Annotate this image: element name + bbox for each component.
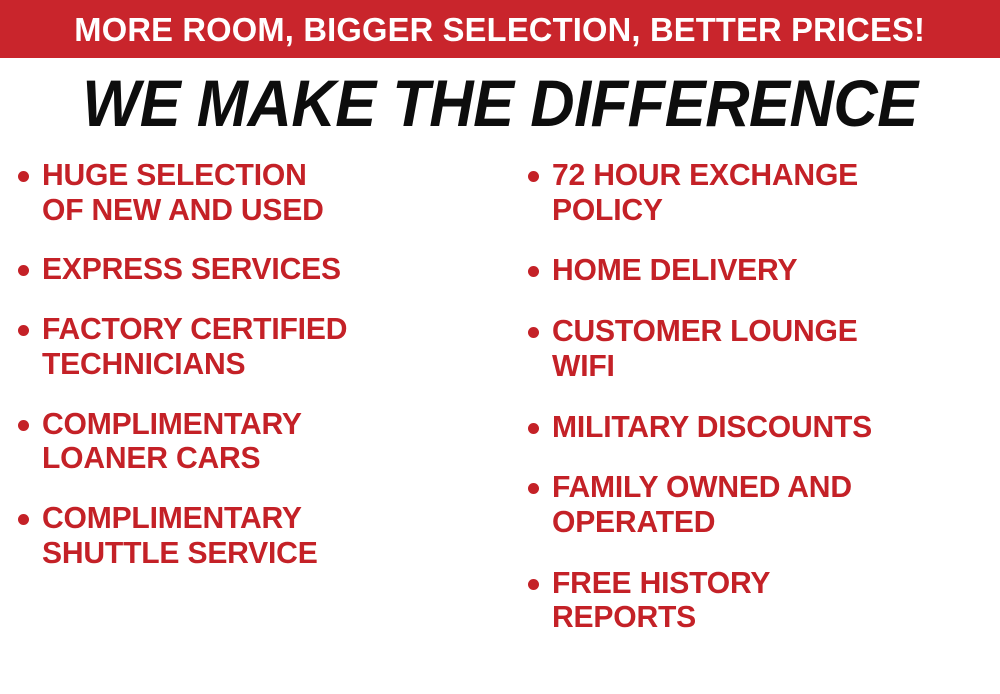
feature-label: 72 HOUR EXCHANGE POLICY <box>552 158 987 227</box>
feature-label: EXPRESS SERVICES <box>42 252 494 287</box>
bullet-dot-icon <box>528 483 539 494</box>
features-column-left: HUGE SELECTION OF NEW AND USED EXPRESS S… <box>0 158 508 694</box>
feature-item: COMPLIMENTARY SHUTTLE SERVICE <box>18 501 508 570</box>
bullet-dot-icon <box>528 171 539 182</box>
features-section: HUGE SELECTION OF NEW AND USED EXPRESS S… <box>0 158 1000 694</box>
feature-item: FAMILY OWNED AND OPERATED <box>528 470 1000 539</box>
bullet-dot-icon <box>18 171 29 182</box>
bullet-dot-icon <box>528 266 539 277</box>
feature-item: HOME DELIVERY <box>528 253 1000 288</box>
feature-item: MILITARY DISCOUNTS <box>528 410 1000 445</box>
feature-label: FAMILY OWNED AND OPERATED <box>552 470 987 539</box>
bullet-dot-icon <box>528 327 539 338</box>
feature-label: HOME DELIVERY <box>552 253 987 288</box>
feature-item: FACTORY CERTIFIED TECHNICIANS <box>18 312 508 381</box>
feature-item: EXPRESS SERVICES <box>18 252 508 287</box>
page-title: WE MAKE THE DIFFERENCE <box>35 70 965 136</box>
feature-item: 72 HOUR EXCHANGE POLICY <box>528 158 1000 227</box>
feature-item: COMPLIMENTARY LOANER CARS <box>18 407 508 476</box>
bullet-dot-icon <box>18 514 29 525</box>
bullet-dot-icon <box>18 420 29 431</box>
promo-banner-text: MORE ROOM, BIGGER SELECTION, BETTER PRIC… <box>75 13 926 46</box>
bullet-dot-icon <box>528 423 539 434</box>
bullet-dot-icon <box>528 579 539 590</box>
feature-label: COMPLIMENTARY SHUTTLE SERVICE <box>42 501 494 570</box>
feature-item: CUSTOMER LOUNGE WIFI <box>528 314 1000 383</box>
feature-label: COMPLIMENTARY LOANER CARS <box>42 407 494 476</box>
bullet-dot-icon <box>18 325 29 336</box>
feature-label: FACTORY CERTIFIED TECHNICIANS <box>42 312 494 381</box>
promo-banner: MORE ROOM, BIGGER SELECTION, BETTER PRIC… <box>0 0 1000 58</box>
feature-item: FREE HISTORY REPORTS <box>528 566 1000 635</box>
features-column-right: 72 HOUR EXCHANGE POLICY HOME DELIVERY CU… <box>508 158 1000 694</box>
feature-label: FREE HISTORY REPORTS <box>552 566 987 635</box>
feature-label: HUGE SELECTION OF NEW AND USED <box>42 158 494 227</box>
feature-label: CUSTOMER LOUNGE WIFI <box>552 314 987 383</box>
feature-item: HUGE SELECTION OF NEW AND USED <box>18 158 508 227</box>
bullet-dot-icon <box>18 265 29 276</box>
feature-label: MILITARY DISCOUNTS <box>552 410 987 445</box>
